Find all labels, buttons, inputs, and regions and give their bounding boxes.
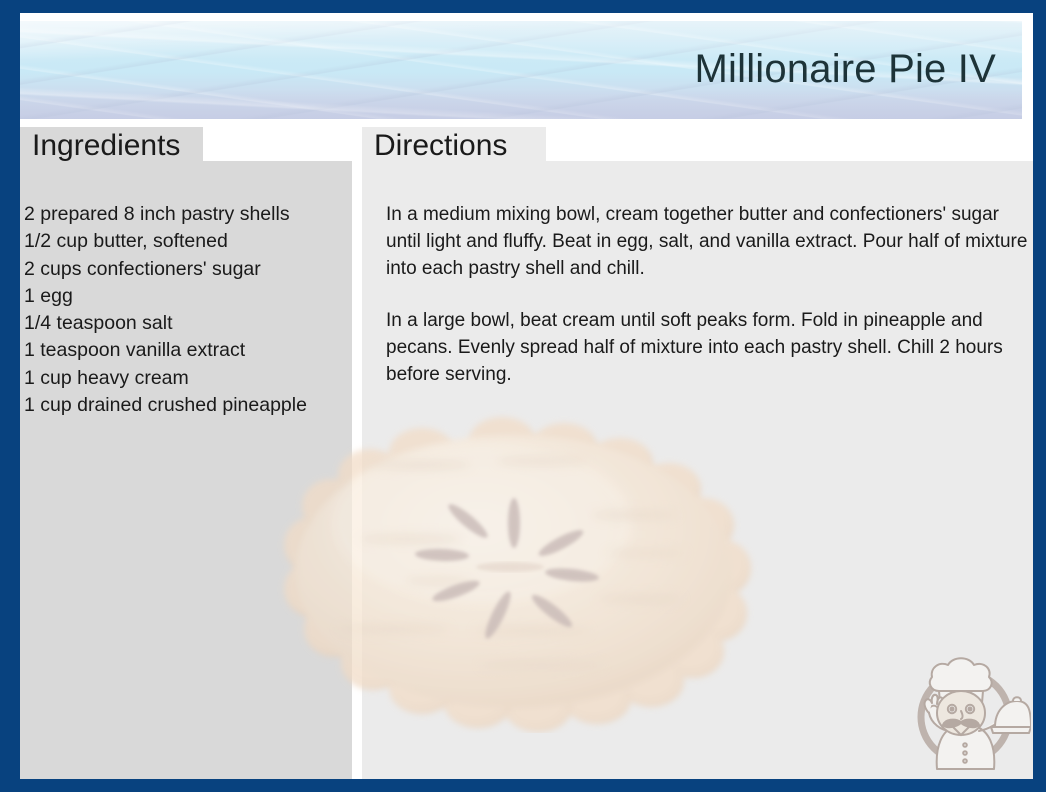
list-item: 1 cup drained crushed pineapple [24,392,346,419]
page-title: Millionaire Pie IV [695,47,997,92]
directions-panel: In a medium mixing bowl, cream together … [362,161,1033,779]
recipe-card: Millionaire Pie IV Ingredients Direction… [0,0,1046,792]
list-item: 2 cups confectioners' sugar [24,256,346,283]
list-item: 2 prepared 8 inch pastry shells [24,201,346,228]
list-item: 1 cup heavy cream [24,365,346,392]
direction-step: In a medium mixing bowl, cream together … [386,201,1033,282]
tab-ingredients-label: Ingredients [32,129,180,163]
recipe-page: Millionaire Pie IV Ingredients Direction… [20,13,1033,779]
header-banner: Millionaire Pie IV [20,21,1022,119]
directions-body: In a medium mixing bowl, cream together … [386,201,1033,388]
list-item: 1 egg [24,283,346,310]
direction-step: In a large bowl, beat cream until soft p… [386,307,1033,388]
ingredients-panel: 2 prepared 8 inch pastry shells 1/2 cup … [20,161,352,779]
list-item: 1 teaspoon vanilla extract [24,337,346,364]
list-item: 1/4 teaspoon salt [24,310,346,337]
ingredients-list: 2 prepared 8 inch pastry shells 1/2 cup … [24,201,346,419]
list-item: 1/2 cup butter, softened [24,228,346,255]
tab-directions-label: Directions [374,129,507,163]
